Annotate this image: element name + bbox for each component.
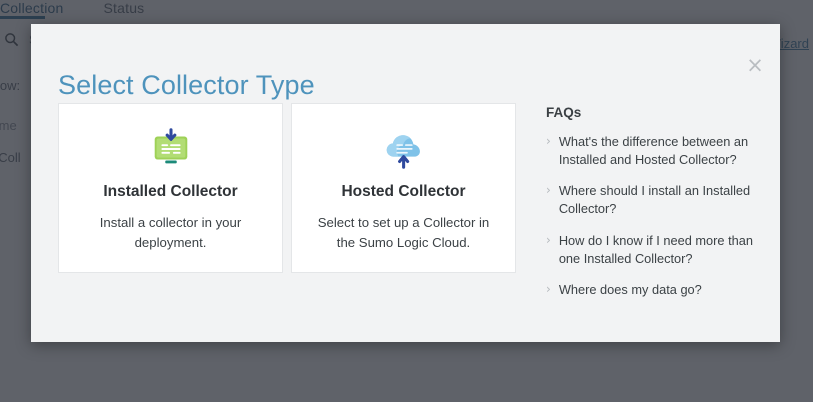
select-collector-type-dialog: × Select Collector Type Installed Collec… <box>31 24 780 342</box>
dialog-body: Installed Collector Install a collector … <box>58 103 758 312</box>
collector-type-cards: Installed Collector Install a collector … <box>58 103 516 312</box>
faq-link-4[interactable]: › Where does my data go? <box>546 281 758 299</box>
installed-collector-title: Installed Collector <box>103 183 237 201</box>
faqs-section: FAQs › What's the difference between an … <box>546 103 758 312</box>
faq-label[interactable]: Where should I install an Installed Coll… <box>559 182 758 218</box>
faqs-heading: FAQs <box>546 105 758 120</box>
faq-link-1[interactable]: › What's the difference between an Insta… <box>546 133 758 169</box>
installed-collector-monitor-download-icon <box>148 126 194 172</box>
hosted-collector-title: Hosted Collector <box>341 183 465 201</box>
installed-collector-description: Install a collector in your deployment. <box>81 213 261 252</box>
faq-label[interactable]: Where does my data go? <box>559 281 702 299</box>
dialog-title: Select Collector Type <box>58 70 315 101</box>
chevron-right-icon: › <box>546 133 551 169</box>
chevron-right-icon: › <box>546 182 551 218</box>
chevron-right-icon: › <box>546 281 551 299</box>
faq-label[interactable]: What's the difference between an Install… <box>559 133 758 169</box>
installed-collector-card[interactable]: Installed Collector Install a collector … <box>58 103 283 273</box>
faq-label[interactable]: How do I know if I need more than one In… <box>559 232 758 268</box>
hosted-collector-description: Select to set up a Collector in the Sumo… <box>314 213 494 252</box>
hosted-collector-card[interactable]: Hosted Collector Select to set up a Coll… <box>291 103 516 273</box>
faq-link-3[interactable]: › How do I know if I need more than one … <box>546 232 758 268</box>
close-icon[interactable]: × <box>744 54 766 76</box>
chevron-right-icon: › <box>546 232 551 268</box>
hosted-collector-cloud-upload-icon <box>381 126 427 172</box>
faq-link-2[interactable]: › Where should I install an Installed Co… <box>546 182 758 218</box>
